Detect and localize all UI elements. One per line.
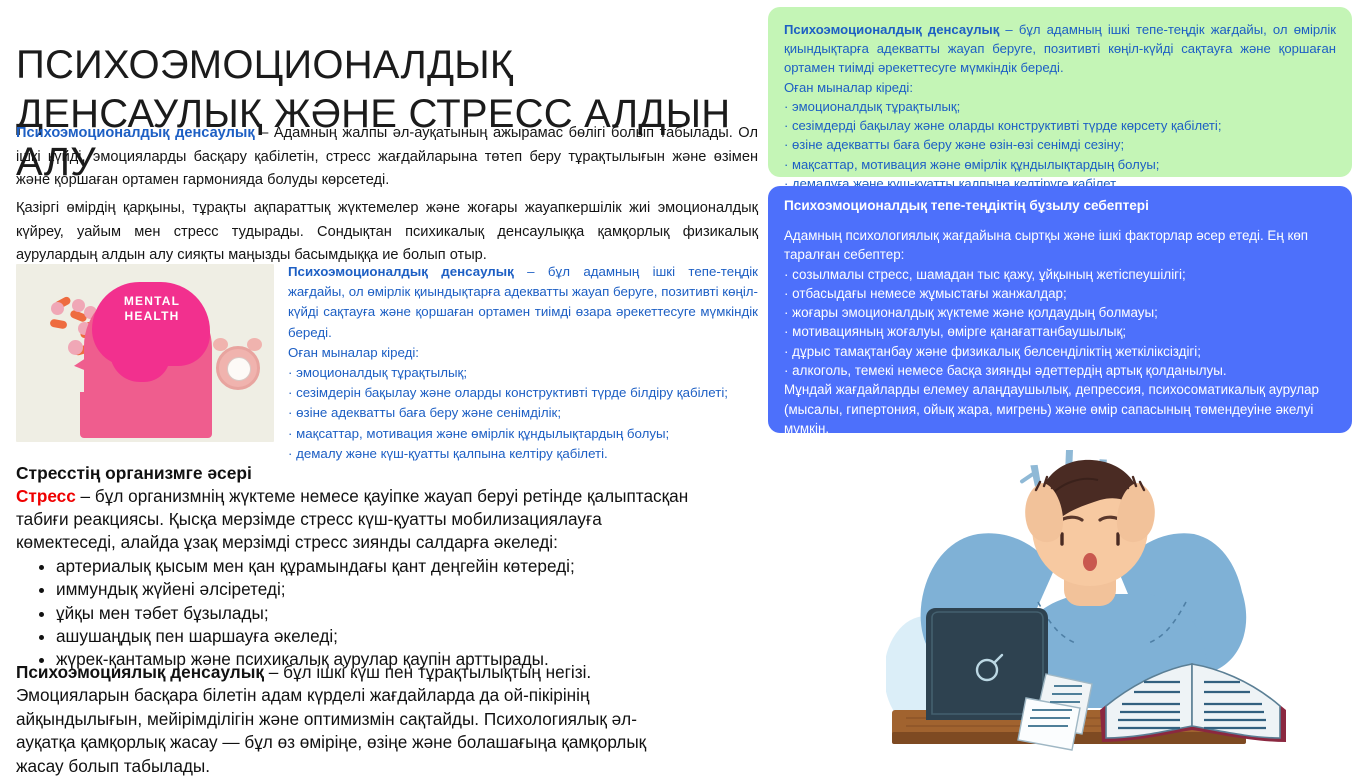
mid-blue-lead: Психоэмоционалдық денсаулық – бұл адамны…	[288, 262, 758, 343]
tablet-icon	[51, 302, 64, 315]
intro-keyword: Психоэмоционалдық денсаулық	[16, 125, 255, 141]
stress-section: Стресстің организмге әсері Стресс – бұл …	[16, 462, 696, 672]
tablet-icon	[72, 299, 85, 312]
blue-card-body: Адамның психологиялық жағдайына сыртқы ж…	[784, 226, 1336, 438]
blue-card-list-item: · дұрыс тамақтанбау және физикалық белсе…	[784, 342, 1336, 361]
green-card-list-item: · эмоционалдық тұрақтылық;	[784, 97, 1336, 116]
stress-effects-list: артериалық қысым мен қан құрамындағы қан…	[16, 555, 696, 672]
poster-root: ПСИХОЭМОЦИОНАЛДЫҚ ДЕНСАУЛЫҚ ЖӘНЕ СТРЕСС …	[0, 0, 1366, 768]
green-definition-card: Психоэмоционалдық денсаулық – бұл адамны…	[768, 7, 1352, 177]
stressed-student-illustration	[886, 442, 1352, 766]
blue-causes-card: Психоэмоционалдық тепе-теңдіктің бұзылу …	[768, 186, 1352, 433]
pill-icon	[49, 319, 67, 330]
alarm-clock-icon	[212, 336, 264, 396]
blue-card-list-item: · мотивацияның жоғалуы, өмірге қанағатта…	[784, 322, 1336, 341]
list-item: ашушаңдық пен шаршауға әкеледі;	[56, 625, 696, 648]
stress-heading: Стресстің организмге әсері	[16, 462, 696, 485]
mid-blue-list-item: · демалу және күш-қуатты қалпына келтіру…	[288, 444, 758, 464]
closing-paragraph: Психоэмоциялық денсаулық – бұл ішкі күш …	[16, 661, 696, 778]
mid-blue-keyword: Психоэмоционалдық денсаулық	[288, 264, 514, 279]
mid-blue-definition-block: Психоэмоционалдық денсаулық – бұл адамны…	[288, 262, 758, 464]
green-card-list-item: · мақсаттар, мотивация және өмірлік құнд…	[784, 155, 1336, 174]
intro-paragraph-2: Қазіргі өмірдің қарқыны, тұрақты ақпарат…	[16, 197, 758, 268]
stress-lead: Стресс – бұл организмнің жүктеме немесе …	[16, 485, 696, 554]
mid-blue-list-intro: Оған мыналар кіреді:	[288, 343, 758, 363]
photo-caption: MENTAL HEALTH	[100, 294, 204, 324]
blue-card-heading: Психоэмоционалдық тепе-теңдіктің бұзылу …	[784, 198, 1336, 213]
list-item: артериалық қысым мен қан құрамындағы қан…	[56, 555, 696, 578]
mouth	[1083, 553, 1097, 571]
stress-keyword: Стресс	[16, 486, 76, 506]
mid-blue-list-item: · өзіне адекватты баға беру және сенімді…	[288, 403, 758, 423]
green-card-list-intro: Оған мыналар кіреді:	[784, 78, 1336, 97]
green-card-body: Психоэмоционалдық денсаулық – бұл адамны…	[784, 20, 1336, 193]
blue-card-closing: Мұндай жағдайларды елемеу алаңдаушылық, …	[784, 380, 1336, 438]
closing-keyword: Психоэмоциялық денсаулық	[16, 662, 264, 682]
stress-lead-rest: – бұл организмнің жүктеме немесе қауіпке…	[16, 486, 688, 552]
photo-caption-line2: HEALTH	[125, 309, 180, 323]
blue-card-list-item: · созылмалы стресс, шамадан тыс қажу, ұй…	[784, 265, 1336, 284]
mid-blue-list-item: · мақсаттар, мотивация және өмірлік құнд…	[288, 424, 758, 444]
list-item: иммундық жүйені әлсіретеді;	[56, 578, 696, 601]
stressed-student-svg	[886, 442, 1352, 766]
blue-card-list-item: · отбасыдағы немесе жұмыстағы жанжалдар;	[784, 284, 1336, 303]
blue-card-lead: Адамның психологиялық жағдайына сыртқы ж…	[784, 226, 1336, 265]
green-card-list-item: · өзіне адекватты баға беру және өзін-өз…	[784, 135, 1336, 154]
mid-blue-list-item: · эмоционалдық тұрақтылық;	[288, 363, 758, 383]
intro-paragraph-1: Психоэмоционалдық денсаулық – Адамның жа…	[16, 122, 758, 193]
blue-card-list-item: · жоғары эмоционалдық жүктеме және қолда…	[784, 303, 1336, 322]
list-item: ұйқы мен тәбет бұзылады;	[56, 602, 696, 625]
tablet-icon	[68, 340, 83, 355]
green-card-list-item: · сезімдерді бақылау және оларды констру…	[784, 116, 1336, 135]
mid-blue-list-item: · сезімдерін бақылау және оларды констру…	[288, 383, 758, 403]
intro-text-block: Психоэмоционалдық денсаулық – Адамның жа…	[16, 122, 758, 272]
clock-dial	[227, 357, 251, 381]
mental-health-photo: MENTAL HEALTH	[16, 264, 274, 442]
head-jaw	[80, 392, 212, 438]
blue-card-list-item: · алкоголь, темекі немесе басқа зиянды ә…	[784, 361, 1336, 380]
clock-face	[216, 346, 260, 390]
green-card-lead: Психоэмоционалдық денсаулық – бұл адамны…	[784, 20, 1336, 78]
photo-caption-line1: MENTAL	[124, 294, 180, 308]
green-card-keyword: Психоэмоционалдық денсаулық	[784, 22, 999, 37]
